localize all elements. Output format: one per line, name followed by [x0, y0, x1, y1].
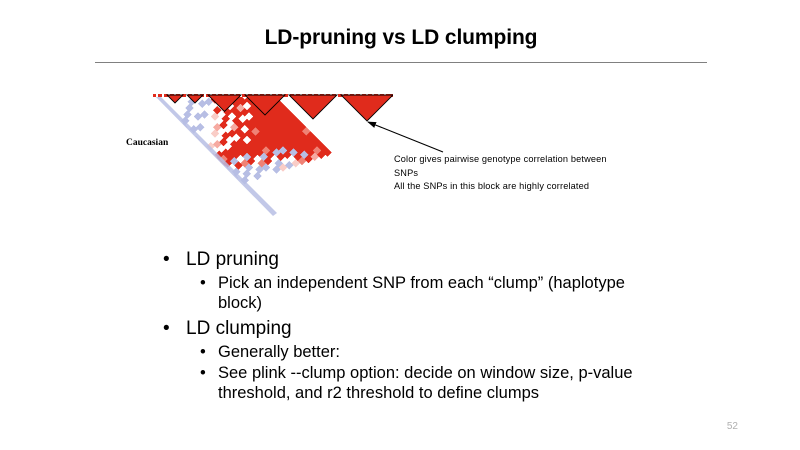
bullet-marker-icon: • — [163, 316, 170, 341]
ld-triangle-svg — [153, 94, 393, 216]
bullet-marker-icon: • — [200, 273, 206, 293]
bullet-ld-pruning: • LD pruning — [160, 247, 660, 272]
slide-canvas: LD-pruning vs LD clumping Caucasian — [0, 0, 800, 450]
haplotype-block-1 — [167, 95, 183, 103]
bullet-see-plink-clump: • See plink --clump option: decide on wi… — [160, 363, 660, 403]
haplotype-block-6 — [341, 95, 393, 121]
annotation-line-2: SNPs — [394, 167, 664, 181]
content-bullet-list: • LD pruning • Pick an independent SNP f… — [160, 244, 660, 403]
bullet-marker-icon: • — [200, 342, 206, 362]
bullet-text: LD pruning — [186, 247, 660, 272]
bullet-ld-clumping: • LD clumping — [160, 316, 660, 341]
annotation-line-3: All the SNPs in this block are highly co… — [394, 180, 664, 194]
figure-annotation: Color gives pairwise genotype correlatio… — [394, 153, 664, 194]
slide-number: 52 — [727, 421, 738, 432]
ld-triangle-plot — [153, 94, 393, 216]
bullet-text: Pick an independent SNP from each “clump… — [218, 273, 660, 313]
ld-heatmap-figure: Caucasian — [120, 90, 420, 225]
bullet-generally-better: • Generally better: — [160, 342, 660, 362]
page-title: LD-pruning vs LD clumping — [95, 26, 707, 50]
annotation-line-1: Color gives pairwise genotype correlatio… — [394, 153, 664, 167]
ld-cells-group — [153, 94, 332, 216]
bullet-marker-icon: • — [163, 247, 170, 272]
bullet-text: LD clumping — [186, 316, 660, 341]
haplotype-block-5 — [289, 95, 337, 119]
title-divider — [95, 62, 707, 63]
bullet-text: Generally better: — [218, 342, 660, 362]
bullet-text: See plink --clump option: decide on wind… — [218, 363, 660, 403]
bullet-marker-icon: • — [200, 363, 206, 383]
bullet-pick-independent-snp: • Pick an independent SNP from each “clu… — [160, 273, 660, 313]
